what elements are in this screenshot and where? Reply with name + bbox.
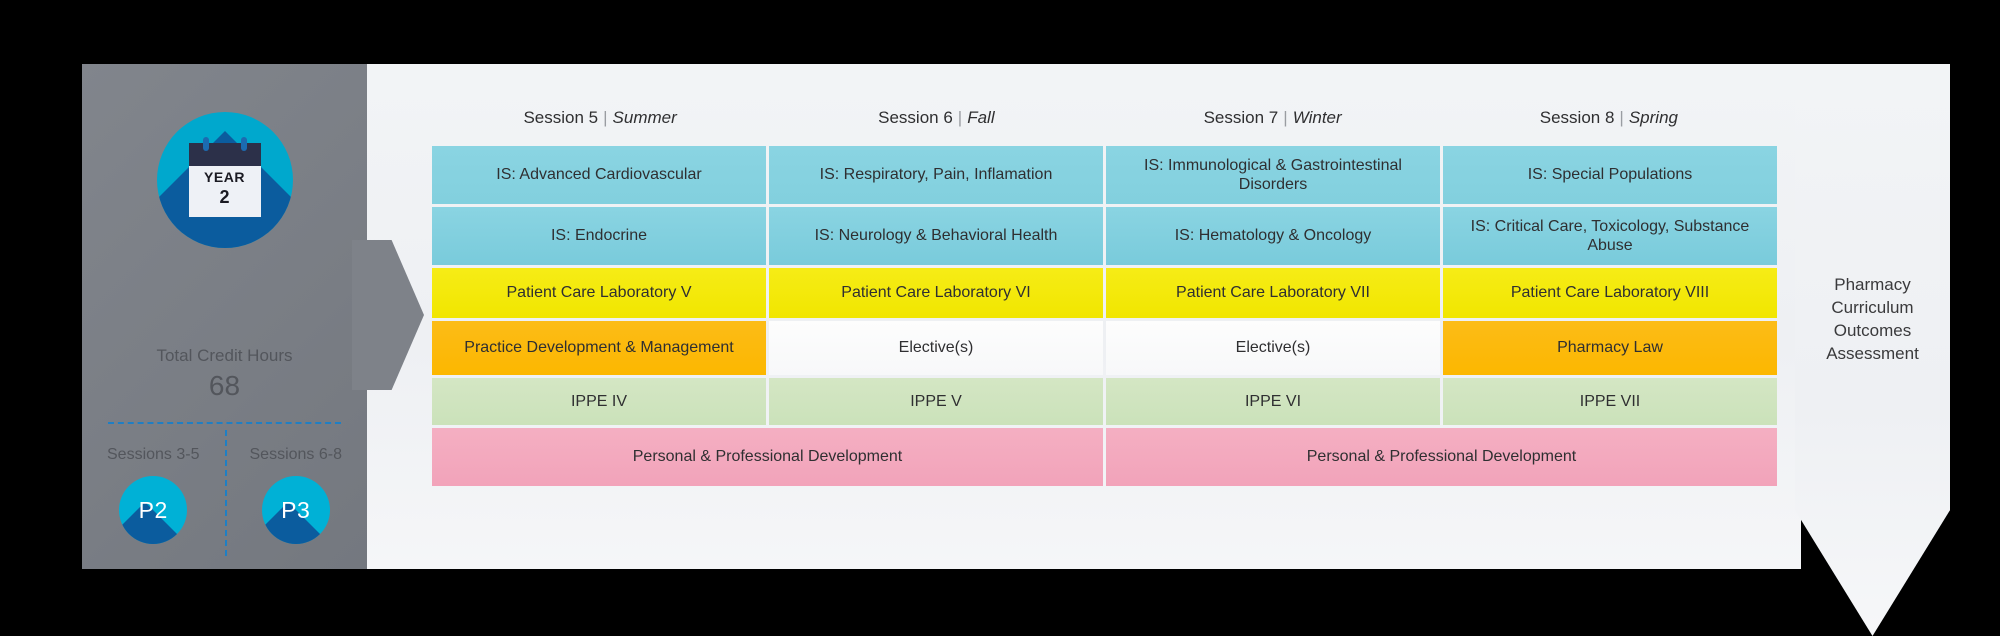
session-header-7-session: Session 7 [1204, 108, 1279, 127]
session-header-7: Session 7|Winter [1105, 108, 1441, 146]
course-cell[interactable]: Personal & Professional Development [432, 428, 1103, 486]
session-header-8-season: Spring [1629, 108, 1678, 127]
session-header-8-separator: | [1614, 108, 1628, 127]
course-cell[interactable]: Patient Care Laboratory VII [1106, 268, 1440, 318]
course-cell[interactable]: IS: Endocrine [432, 207, 766, 265]
course-cell[interactable]: IS: Neurology & Behavioral Health [769, 207, 1103, 265]
outcomes-text: Pharmacy Curriculum Outcomes Assessment [1795, 274, 1950, 366]
session-header-5-season: Summer [613, 108, 677, 127]
course-cell[interactable]: Practice Development & Management [432, 321, 766, 375]
course-cell[interactable]: Elective(s) [769, 321, 1103, 375]
session-header-5-session: Session 5 [523, 108, 598, 127]
phase-badge-p3: P3 [262, 476, 330, 544]
course-cell[interactable]: IS: Respiratory, Pain, Inflamation [769, 146, 1103, 204]
outcomes-arrow-panel: Pharmacy Curriculum Outcomes Assessment [1795, 64, 1950, 636]
session-header-5-separator: | [598, 108, 612, 127]
course-grid: Session 5|Summer Session 6|Fall Session … [432, 108, 1777, 489]
course-cell[interactable]: IS: Advanced Cardiovascular [432, 146, 766, 204]
session-header-8: Session 8|Spring [1441, 108, 1777, 146]
calendar-ring-left-icon [203, 137, 209, 151]
course-cell[interactable]: IS: Hematology & Oncology [1106, 207, 1440, 265]
session-header-6-session: Session 6 [878, 108, 953, 127]
session-header-6: Session 6|Fall [768, 108, 1104, 146]
year-summary-sidebar: YEAR 2 Total Credit Hours 68 Sessions 3-… [82, 64, 367, 569]
course-cell[interactable]: IS: Immunological & Gastrointestinal Dis… [1106, 146, 1440, 204]
course-row-ippe: IPPE IV IPPE V IPPE VI IPPE VII [432, 378, 1777, 425]
course-cell[interactable]: Pharmacy Law [1443, 321, 1777, 375]
phase-sessions-label-p2: Sessions 3-5 [82, 446, 225, 464]
horizontal-divider [108, 422, 341, 424]
course-cell[interactable]: IS: Critical Care, Toxicology, Substance… [1443, 207, 1777, 265]
session-header-7-season: Winter [1293, 108, 1342, 127]
phase-badge-p2: P2 [119, 476, 187, 544]
calendar-year-number: 2 [189, 187, 261, 208]
total-credit-hours-label: Total Credit Hours [82, 346, 367, 366]
phase-block-p2: Sessions 3-5 P2 [82, 446, 225, 544]
session-header-8-session: Session 8 [1540, 108, 1615, 127]
outcomes-line-4: Assessment [1795, 343, 1950, 366]
session-header-5: Session 5|Summer [432, 108, 768, 146]
calendar-ring-right-icon [241, 137, 247, 151]
course-cell[interactable]: IS: Special Populations [1443, 146, 1777, 204]
outcomes-line-1: Pharmacy [1795, 274, 1950, 297]
calendar-icon-header [189, 143, 261, 166]
session-header-6-season: Fall [967, 108, 994, 127]
session-header-7-separator: | [1278, 108, 1292, 127]
course-cell[interactable]: Patient Care Laboratory VIII [1443, 268, 1777, 318]
course-row-ppd: Personal & Professional Development Pers… [432, 428, 1777, 486]
course-row-elective: Practice Development & Management Electi… [432, 321, 1777, 375]
phase-sessions-label-p3: Sessions 6-8 [225, 446, 368, 464]
course-row-lab: Patient Care Laboratory V Patient Care L… [432, 268, 1777, 318]
phase-badge-text-p2: P2 [119, 476, 187, 544]
course-cell[interactable]: Patient Care Laboratory V [432, 268, 766, 318]
course-row-is-1: IS: Advanced Cardiovascular IS: Respirat… [432, 146, 1777, 204]
session-header-6-separator: | [953, 108, 967, 127]
outcomes-line-2: Curriculum [1795, 297, 1950, 320]
curriculum-diagram: YEAR 2 Total Credit Hours 68 Sessions 3-… [0, 0, 2000, 636]
course-cell[interactable]: IPPE V [769, 378, 1103, 425]
calendar-icon-card: YEAR 2 [189, 143, 261, 217]
course-cell[interactable]: Elective(s) [1106, 321, 1440, 375]
course-row-is-2: IS: Endocrine IS: Neurology & Behavioral… [432, 207, 1777, 265]
course-cell[interactable]: Patient Care Laboratory VI [769, 268, 1103, 318]
course-cell[interactable]: IPPE IV [432, 378, 766, 425]
course-cell[interactable]: IPPE VII [1443, 378, 1777, 425]
session-header-row: Session 5|Summer Session 6|Fall Session … [432, 108, 1777, 146]
calendar-year-label: YEAR [189, 169, 261, 185]
phase-block-p3: Sessions 6-8 P3 [225, 446, 368, 544]
outcomes-line-3: Outcomes [1795, 320, 1950, 343]
total-credit-hours-value: 68 [82, 370, 367, 402]
course-cell[interactable]: IPPE VI [1106, 378, 1440, 425]
course-cell[interactable]: Personal & Professional Development [1106, 428, 1777, 486]
calendar-icon: YEAR 2 [157, 112, 293, 248]
phase-badge-text-p3: P3 [262, 476, 330, 544]
